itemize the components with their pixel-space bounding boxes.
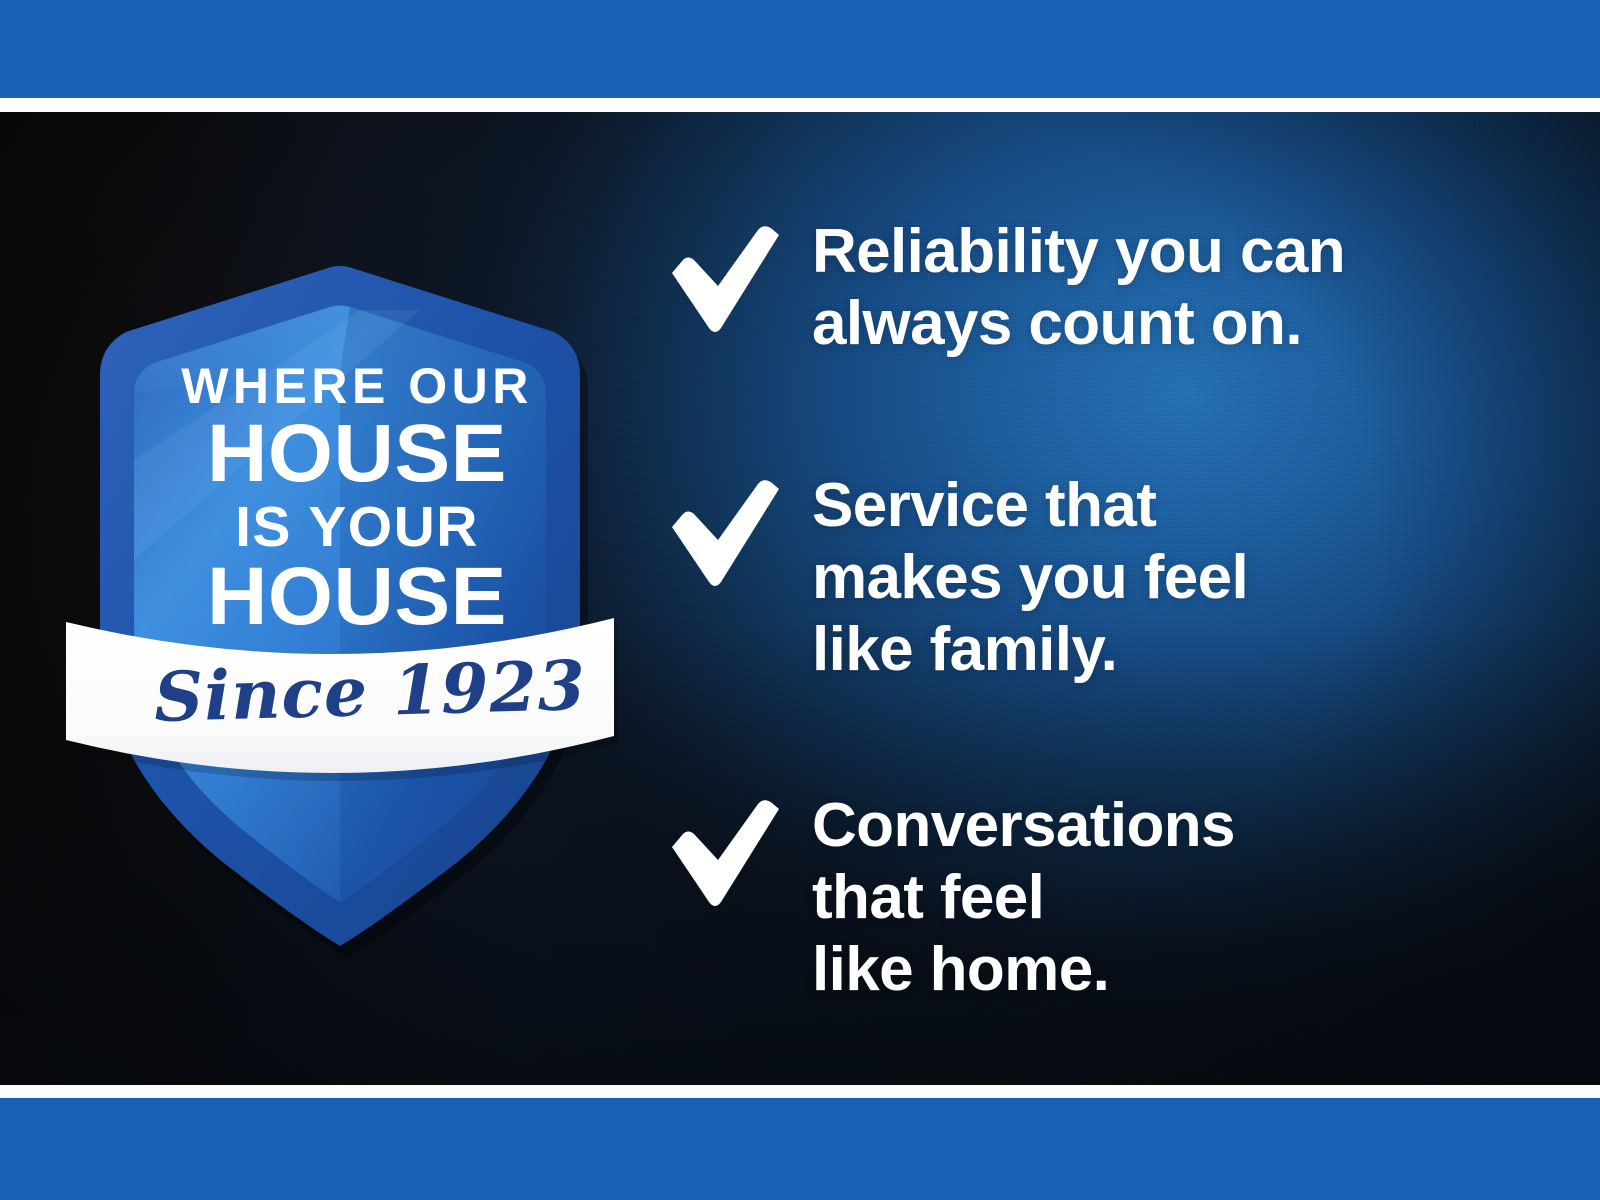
benefit-text-service: Service that makes you feel like family. [812,470,1248,686]
top-white-divider [0,98,1600,112]
badge-line-house-1: House [71,413,642,495]
badge-line-is-your: is your [77,499,637,556]
benefit-item-conversations: Conversations that feel like home. [666,790,1235,1006]
benefit-item-reliability: Reliability you can always count on. [666,216,1345,360]
badge-line-where: Where our [77,361,637,411]
promotional-graphic: Where our House is your House Since 1923… [0,0,1600,1200]
benefit-text-reliability: Reliability you can always count on. [812,216,1345,360]
shield-badge: Where our House is your House Since 1923 [60,160,620,950]
checkmark-icon [666,798,784,910]
bottom-white-divider [0,1085,1600,1098]
benefit-text-conversations: Conversations that feel like home. [812,790,1235,1006]
badge-line-house-2: House [71,556,642,638]
benefits-list: Reliability you can always count on. Ser… [666,112,1566,1085]
checkmark-icon [666,478,784,590]
top-brand-bar [0,0,1600,98]
bottom-brand-bar [0,1098,1600,1200]
benefit-item-service: Service that makes you feel like family. [666,470,1248,686]
checkmark-icon [666,224,784,336]
badge-since-year: Since 1923 [89,650,651,734]
